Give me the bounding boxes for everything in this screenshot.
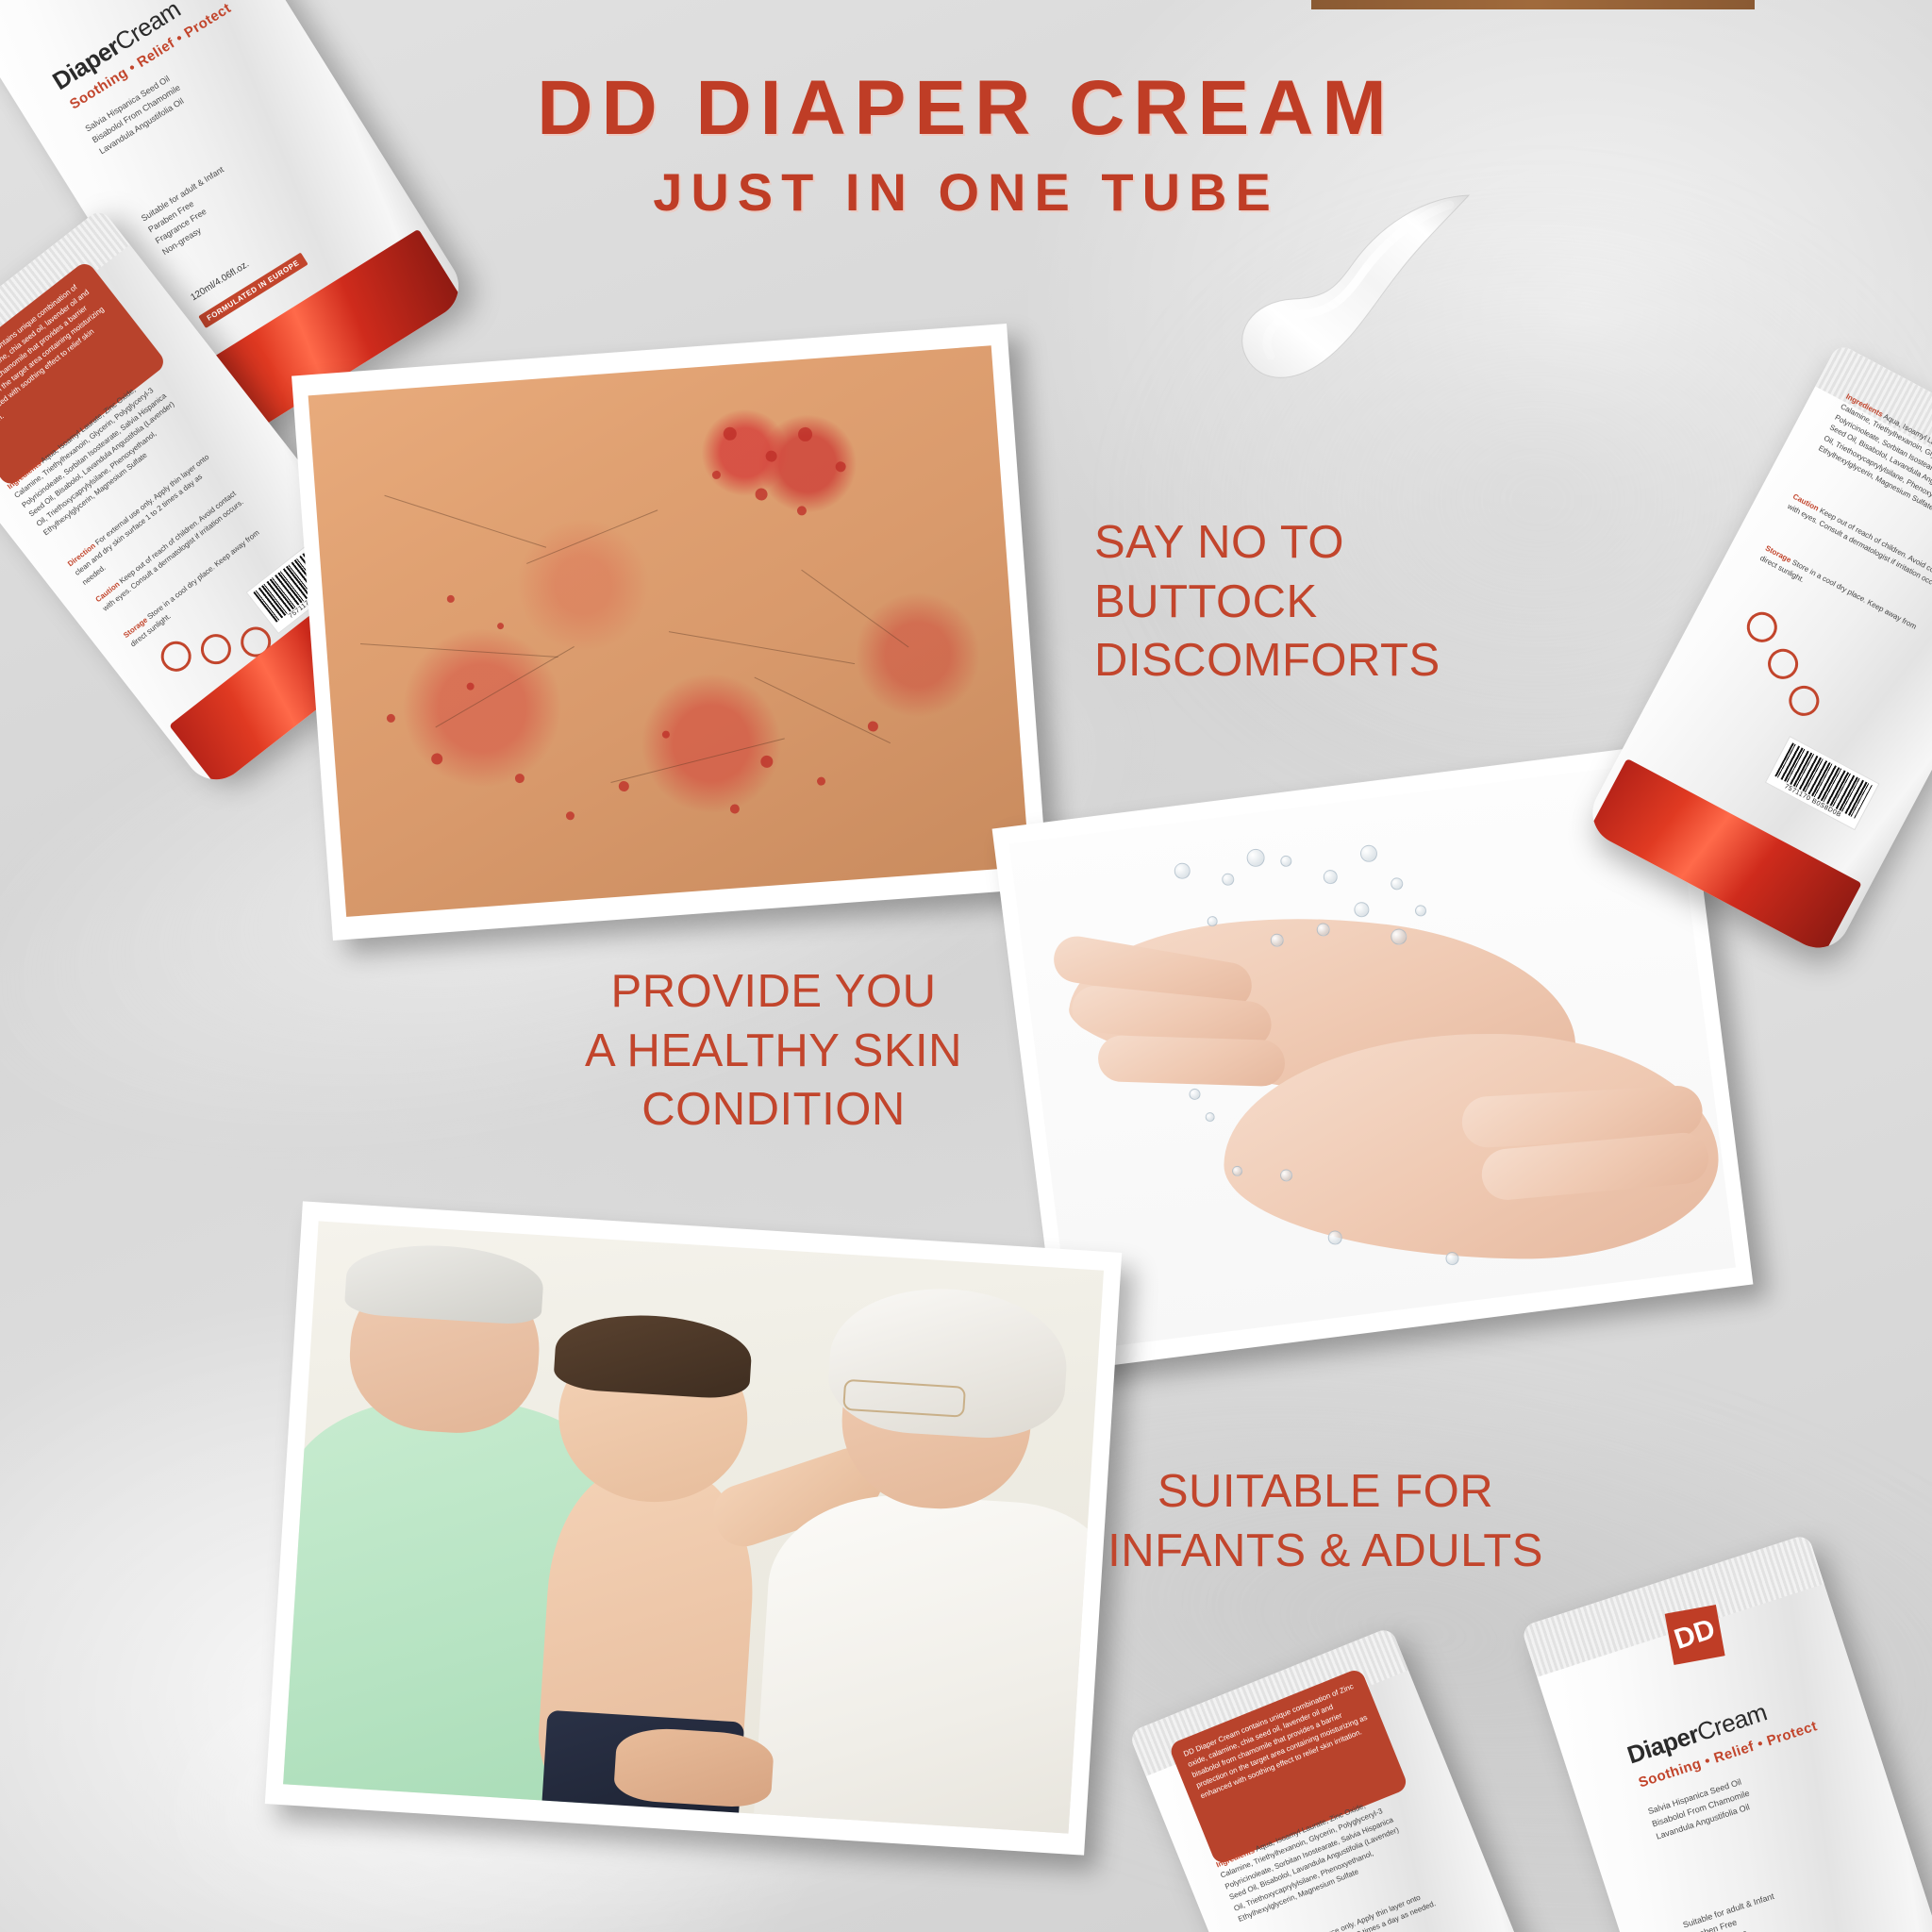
finger xyxy=(1097,1035,1286,1087)
dd-logo-icon: DD xyxy=(57,0,140,6)
feature-caption-buttock: SAY NO TO BUTTOCK DISCOMFORTS xyxy=(1094,513,1491,691)
feature-caption-healthy-skin: PROVIDE YOU A HEALTHY SKIN CONDITION xyxy=(566,962,981,1140)
feature-caption-suitable: SUITABLE FOR INFANTS & ADULTS xyxy=(1094,1462,1557,1580)
photo-card-rash xyxy=(291,324,1048,941)
grandfather-hand xyxy=(613,1726,774,1809)
header-block: DD DIAPER CREAM JUST IN ONE TUBE xyxy=(0,68,1932,222)
caption-line: BUTTOCK xyxy=(1094,573,1491,632)
caption-line: INFANTS & ADULTS xyxy=(1094,1522,1557,1581)
caption-line: PROVIDE YOU xyxy=(566,962,981,1022)
tube-body: DD DiaperCream Soothing • Relief • Prote… xyxy=(1521,1534,1932,1932)
photo-image-family xyxy=(283,1221,1104,1833)
tube-barcode: 7571170 B0S8D0B xyxy=(1765,736,1880,830)
logo-letters: DD xyxy=(1671,1615,1718,1655)
page-title: DD DIAPER CREAM xyxy=(0,68,1932,150)
caption-line: CONDITION xyxy=(566,1080,981,1140)
photo-image-rash xyxy=(308,345,1030,917)
warning-icon-1 xyxy=(1741,607,1782,647)
product-tube-bottom-right: DD DiaperCream Soothing • Relief • Prote… xyxy=(1521,1534,1932,1932)
caption-line: A HEALTHY SKIN xyxy=(566,1022,981,1081)
photo-card-family xyxy=(265,1201,1122,1855)
cream-swoosh-icon xyxy=(1212,193,1495,396)
page-subtitle: JUST IN ONE TUBE xyxy=(0,163,1932,222)
warning-icon-2 xyxy=(1762,643,1803,684)
tube-body: DD Diaper Cream contains unique combinat… xyxy=(1128,1626,1589,1932)
caption-line: SUITABLE FOR xyxy=(1094,1462,1557,1522)
caption-line: SAY NO TO xyxy=(1094,513,1491,573)
product-tube-bottom-center: DD Diaper Cream contains unique combinat… xyxy=(1128,1626,1589,1932)
grandfather-hair xyxy=(344,1240,545,1325)
grandmother-hair xyxy=(825,1282,1070,1443)
top-accent-strip xyxy=(1311,0,1755,9)
poster-canvas: DD DiaperCream Soothing • Relief • Prote… xyxy=(0,0,1932,1932)
grandmother-figure xyxy=(753,1487,1104,1833)
warning-icon-3 xyxy=(1784,680,1824,721)
baby-hair xyxy=(553,1309,754,1401)
caption-line: DISCOMFORTS xyxy=(1094,631,1491,691)
warning-icon-2 xyxy=(194,628,237,671)
